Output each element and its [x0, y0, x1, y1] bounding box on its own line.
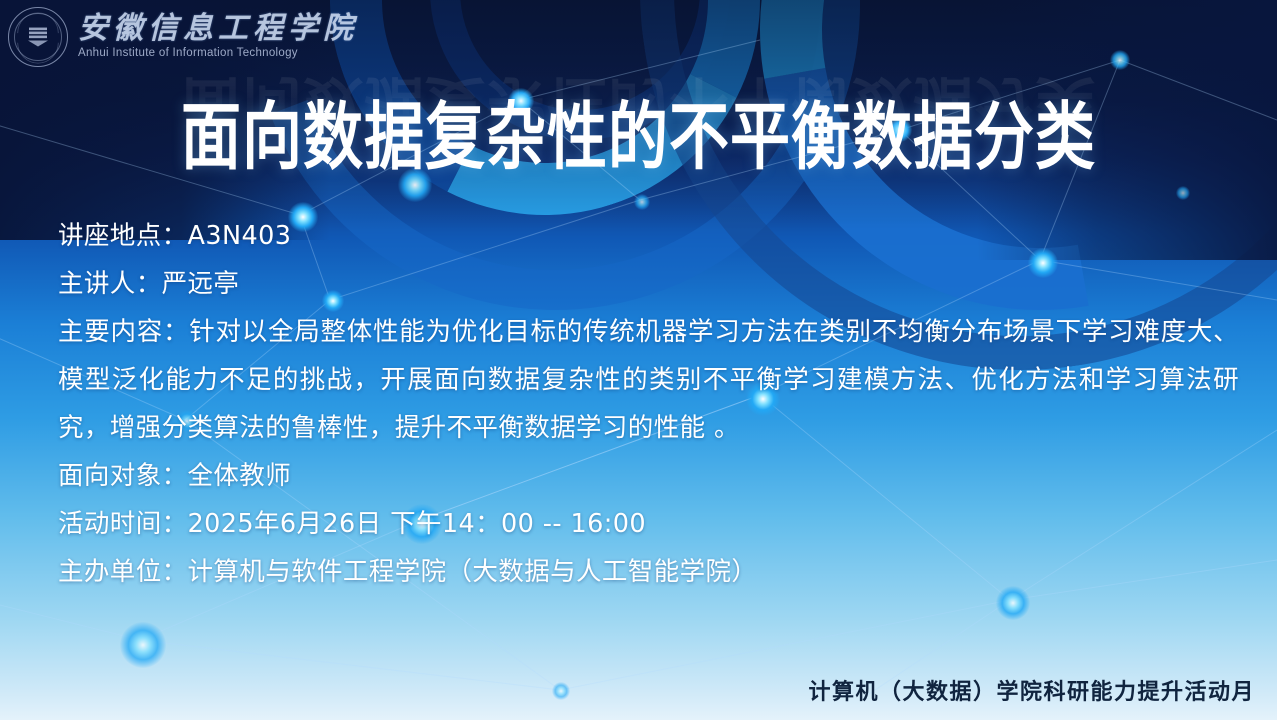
page-title: 面向数据复杂性的不平衡数据分类: [0, 78, 1277, 184]
detail-audience: 面向对象：全体教师: [58, 452, 1239, 500]
logo-text-block: 安徽信息工程学院 Anhui Institute of Information …: [78, 14, 358, 60]
detail-speaker: 主讲人：严远亭: [58, 260, 1239, 308]
detail-content: 主要内容：针对以全局整体性能为优化目标的传统机器学习方法在类别不均衡分布场景下学…: [58, 308, 1239, 452]
seal-ring-text: [9, 8, 67, 66]
detail-venue: 讲座地点：A3N403: [58, 212, 1239, 260]
detail-organizer: 主办单位：计算机与软件工程学院（大数据与人工智能学院）: [58, 548, 1239, 596]
detail-time: 活动时间：2025年6月26日 下午14：00 -- 16:00: [58, 500, 1239, 548]
details-block: 讲座地点：A3N403 主讲人：严远亭 主要内容：针对以全局整体性能为优化目标的…: [58, 212, 1239, 596]
university-seal-icon: [8, 7, 68, 67]
footer-campaign-label: 计算机（大数据）学院科研能力提升活动月: [808, 674, 1255, 706]
logo-name-en: Anhui Institute of Information Technolog…: [78, 48, 358, 60]
institution-logo: 安徽信息工程学院 Anhui Institute of Information …: [8, 7, 358, 67]
poster-canvas: 安徽信息工程学院 Anhui Institute of Information …: [0, 0, 1277, 720]
logo-name-cn: 安徽信息工程学院: [78, 14, 358, 44]
